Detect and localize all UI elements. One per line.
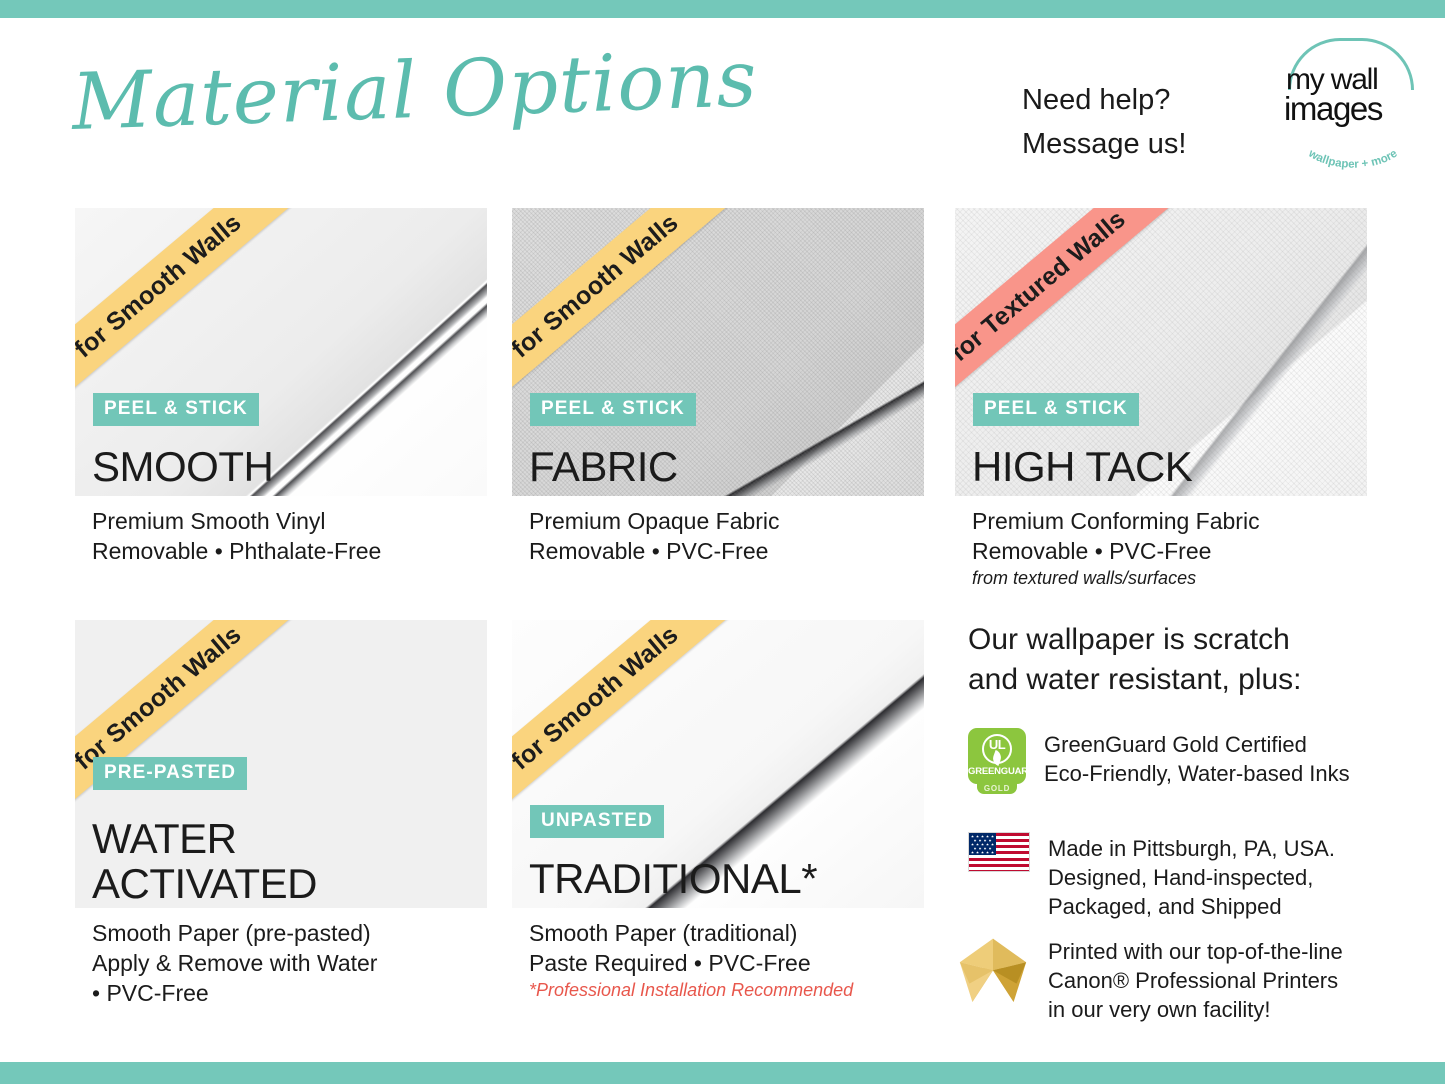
info-line-1: GreenGuard Gold Certified xyxy=(1044,730,1350,759)
info-line-2: Canon® Professional Printers xyxy=(1048,966,1343,995)
material-card-water-activated[interactable]: for Smooth Walls PRE-PASTED WATER ACTIVA… xyxy=(75,620,487,908)
info-line-3: in our very own facility! xyxy=(1048,995,1343,1024)
caption-line-2: Removable • PVC-Free xyxy=(529,536,949,566)
card-ribbon: for Smooth Walls xyxy=(75,208,300,410)
card-caption: Premium Conforming Fabric Removable • PV… xyxy=(972,506,1392,591)
caption-note: from textured walls/surfaces xyxy=(972,566,1392,591)
caption-line-2: Apply & Remove with Water xyxy=(92,948,512,978)
card-image-fabric: for Smooth Walls PEEL & STICK FABRIC xyxy=(512,208,924,496)
need-help-text: Need help? Message us! xyxy=(1022,78,1252,166)
logo-tagline-text: wallpaper + more xyxy=(1306,147,1400,171)
caption-line-1: Smooth Paper (pre-pasted) xyxy=(92,918,512,948)
info-row-canon-printers: Printed with our top-of-the-line Canon® … xyxy=(956,935,1396,1024)
card-image-water-activated: for Smooth Walls PRE-PASTED WATER ACTIVA… xyxy=(75,620,487,908)
card-caption: Premium Smooth Vinyl Removable • Phthala… xyxy=(92,506,512,566)
info-line-1: Printed with our top-of-the-line xyxy=(1048,937,1343,966)
card-badge: UNPASTED xyxy=(530,805,664,838)
card-title: TRADITIONAL* xyxy=(529,856,817,902)
info-heading-line1: Our wallpaper is scratch xyxy=(968,620,1398,660)
info-row-text: Printed with our top-of-the-line Canon® … xyxy=(1048,935,1343,1024)
card-badge: PEEL & STICK xyxy=(973,393,1139,426)
card-image-smooth: for Smooth Walls PEEL & STICK SMOOTH xyxy=(75,208,487,496)
info-heading-line2: and water resistant, plus: xyxy=(968,660,1398,700)
caption-line-2: Removable • Phthalate-Free xyxy=(92,536,512,566)
card-ribbon: for Smooth Walls xyxy=(512,208,737,410)
need-help-line1: Need help? xyxy=(1022,78,1252,122)
bottom-accent-bar xyxy=(0,1062,1445,1084)
card-caption: Smooth Paper (traditional) Paste Require… xyxy=(529,918,949,1003)
need-help-line2: Message us! xyxy=(1022,122,1252,166)
info-line-3: Packaged, and Shipped xyxy=(1048,892,1335,921)
usa-flag-icon xyxy=(968,832,1030,872)
card-title: HIGH TACK xyxy=(972,444,1192,490)
card-ribbon: for Smooth Walls xyxy=(512,620,737,822)
info-row-text: GreenGuard Gold Certified Eco-Friendly, … xyxy=(1044,728,1350,794)
card-ribbon: for Smooth Walls xyxy=(75,620,300,822)
greenguard-label: GREENGUARD xyxy=(968,766,1026,777)
svg-text:wallpaper + more: wallpaper + more xyxy=(1306,147,1400,171)
info-line-2: Eco-Friendly, Water-based Inks xyxy=(1044,759,1350,788)
caption-line-3: • PVC-Free xyxy=(92,978,512,1008)
greenguard-gold-badge-icon: UL GREENGUARD GOLD xyxy=(968,728,1026,794)
card-title: WATER ACTIVATED xyxy=(92,816,317,906)
card-image-high-tack: for Textured Walls PEEL & STICK HIGH TAC… xyxy=(955,208,1367,496)
caption-line-1: Premium Conforming Fabric xyxy=(972,506,1392,536)
greenguard-gold-label: GOLD xyxy=(968,784,1026,793)
card-ribbon: for Textured Walls xyxy=(955,208,1180,410)
gold-star-icon xyxy=(956,935,1030,1005)
caption-note: *Professional Installation Recommended xyxy=(529,978,949,1003)
card-caption: Premium Opaque Fabric Removable • PVC-Fr… xyxy=(529,506,949,566)
info-heading: Our wallpaper is scratch and water resis… xyxy=(968,620,1398,700)
card-title: SMOOTH xyxy=(92,444,273,490)
card-badge: PRE-PASTED xyxy=(93,757,247,790)
caption-line-1: Premium Smooth Vinyl xyxy=(92,506,512,536)
info-row-made-in-usa: Made in Pittsburgh, PA, USA. Designed, H… xyxy=(968,832,1408,921)
caption-line-2: Paste Required • PVC-Free xyxy=(529,948,949,978)
page-title: Material Options xyxy=(70,26,713,158)
card-caption: Smooth Paper (pre-pasted) Apply & Remove… xyxy=(92,918,512,1008)
material-card-traditional[interactable]: for Smooth Walls UNPASTED TRADITIONAL* S… xyxy=(512,620,924,908)
info-line-1: Made in Pittsburgh, PA, USA. xyxy=(1048,834,1335,863)
caption-line-1: Smooth Paper (traditional) xyxy=(529,918,949,948)
material-card-high-tack[interactable]: for Textured Walls PEEL & STICK HIGH TAC… xyxy=(955,208,1367,496)
brand-logo: my wall images wallpaper + more xyxy=(1282,36,1422,171)
card-image-traditional: for Smooth Walls UNPASTED TRADITIONAL* xyxy=(512,620,924,908)
material-card-fabric[interactable]: for Smooth Walls PEEL & STICK FABRIC Pre… xyxy=(512,208,924,496)
logo-word-images: images xyxy=(1284,92,1424,126)
material-card-smooth[interactable]: for Smooth Walls PEEL & STICK SMOOTH Pre… xyxy=(75,208,487,496)
info-row-text: Made in Pittsburgh, PA, USA. Designed, H… xyxy=(1048,832,1335,921)
material-options-infographic: Material Options Need help? Message us! … xyxy=(0,0,1445,1084)
card-badge: PEEL & STICK xyxy=(93,393,259,426)
caption-line-2: Removable • PVC-Free xyxy=(972,536,1392,566)
caption-line-1: Premium Opaque Fabric xyxy=(529,506,949,536)
logo-tagline: wallpaper + more xyxy=(1290,132,1416,172)
card-badge: PEEL & STICK xyxy=(530,393,696,426)
top-accent-bar xyxy=(0,0,1445,18)
info-row-greenguard: UL GREENGUARD GOLD GreenGuard Gold Certi… xyxy=(968,728,1408,794)
card-title: FABRIC xyxy=(529,444,678,490)
info-line-2: Designed, Hand-inspected, xyxy=(1048,863,1335,892)
